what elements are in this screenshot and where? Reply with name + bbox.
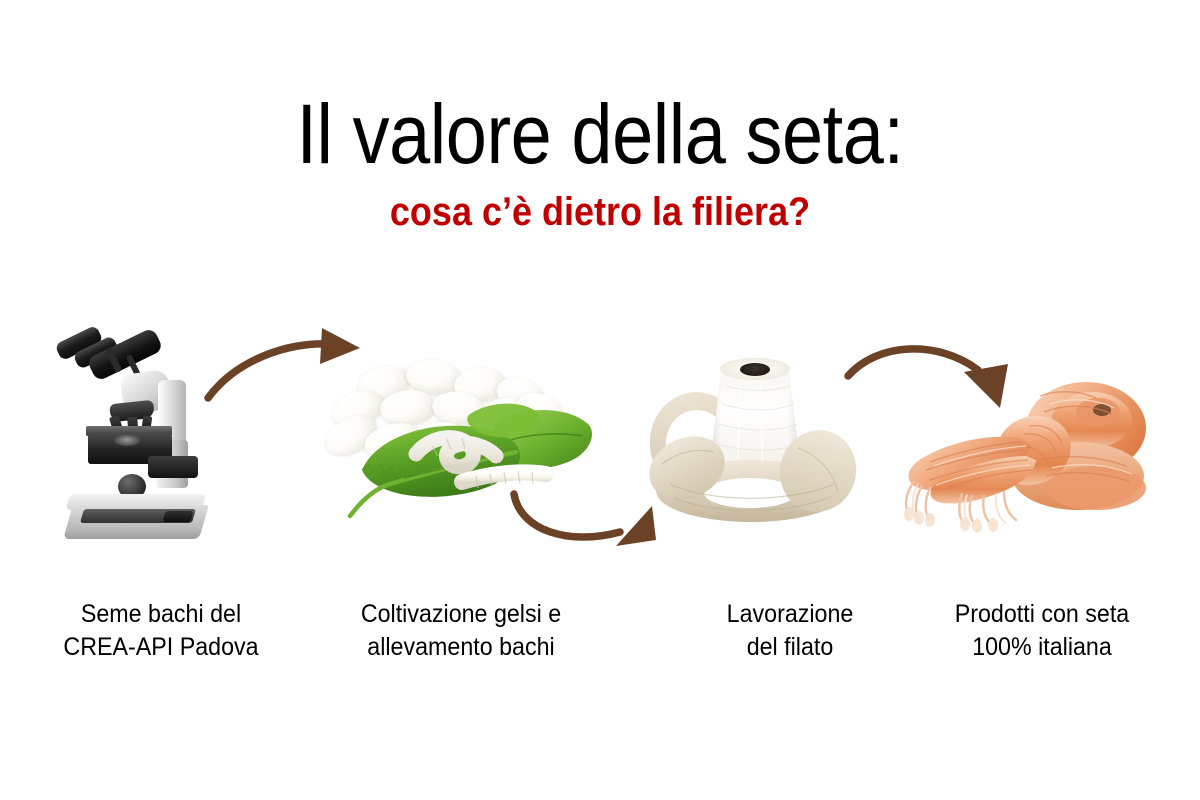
page-subtitle: cosa c’è dietro la filiera? <box>60 192 1140 232</box>
caption-line: Seme bachi del <box>39 598 283 631</box>
caption-line: del filato <box>677 631 904 664</box>
title-block: Il valore della seta: cosa c’è dietro la… <box>0 92 1200 232</box>
caption-line: CREA-API Padova <box>39 631 283 664</box>
arrow-3-icon <box>842 338 1038 432</box>
arrow-1-icon <box>196 324 388 416</box>
arrow-1 <box>196 324 388 416</box>
caption-line: Prodotti con seta <box>929 598 1156 631</box>
arrow-2 <box>496 484 682 568</box>
arrow-2-icon <box>496 484 682 568</box>
microscope-stage-aperture <box>114 435 140 446</box>
microscope-illuminator-window <box>162 511 193 522</box>
slide-canvas: Il valore della seta: cosa c’è dietro la… <box>0 0 1200 800</box>
caption-line: allevamento bachi <box>335 631 588 664</box>
caption-line: 100% italiana <box>929 631 1156 664</box>
caption-lavorazione-filato: Lavorazione del filato <box>677 598 904 665</box>
arrow-3 <box>842 338 1038 432</box>
page-title: Il valore della seta: <box>72 92 1128 176</box>
caption-seme-bachi: Seme bachi del CREA-API Padova <box>39 598 283 665</box>
caption-line: Coltivazione gelsi e <box>335 598 588 631</box>
caption-prodotti-seta: Prodotti con seta 100% italiana <box>929 598 1156 665</box>
caption-line: Lavorazione <box>677 598 904 631</box>
microscope-condenser <box>148 456 198 478</box>
caption-coltivazione-gelsi: Coltivazione gelsi e allevamento bachi <box>335 598 588 665</box>
